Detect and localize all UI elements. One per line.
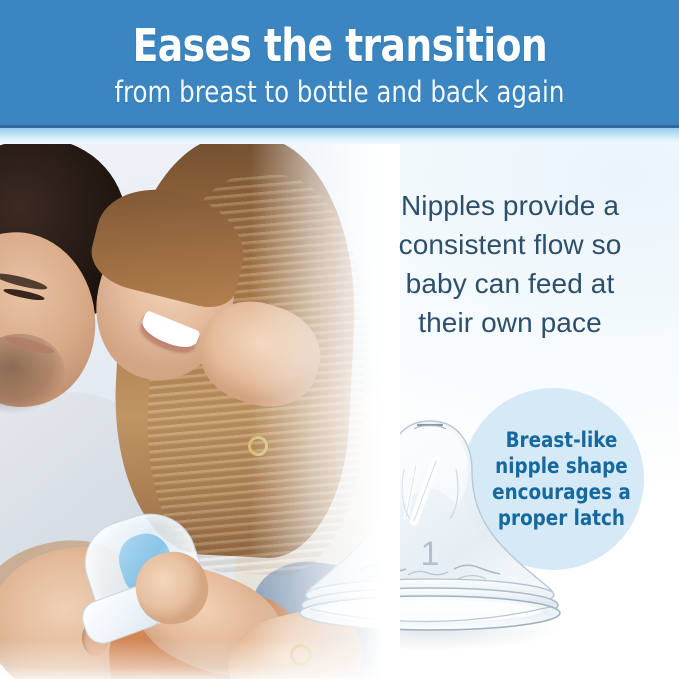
infographic-root: Eases the transition from breast to bott… [0,0,679,679]
photo-bottom-fade [0,639,400,679]
header-banner: Eases the transition from breast to bott… [0,0,679,127]
main-canvas: Nipples provide a consistent flow so bab… [0,144,679,679]
banner-gradient-fade [0,128,679,145]
feature-headline-line-2: consistent flow so [360,225,660,264]
feature-headline: Nipples provide a consistent flow so bab… [360,186,660,342]
family-photo [0,144,400,679]
nipple-flow-number: 1 [421,535,440,573]
feature-headline-line-1: Nipples provide a [360,186,660,225]
banner-title: Eases the transition [132,20,547,72]
feature-headline-line-4: their own pace [360,303,660,342]
banner-subtitle: from breast to bottle and back again [114,75,564,109]
feature-headline-line-3: baby can feed at [360,264,660,303]
